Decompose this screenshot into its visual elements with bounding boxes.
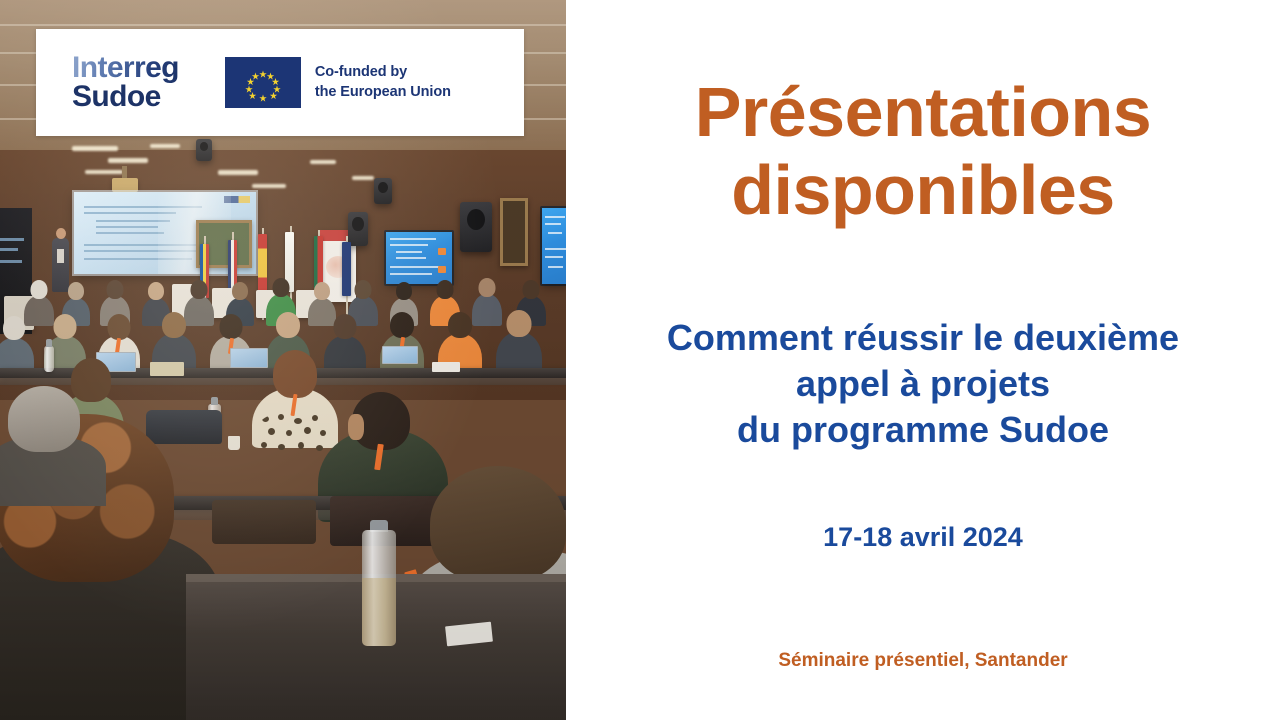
interreg-sudoe-logo: Interreg Sudoe — [72, 54, 179, 110]
loudspeaker — [196, 139, 212, 161]
interreg-logo-line1: Interreg — [72, 54, 179, 82]
bottle-cap — [46, 339, 52, 347]
conference-photo: Interreg Sudoe — [0, 0, 566, 720]
page-title-line2: disponibles — [731, 151, 1114, 229]
attendee-head — [68, 282, 84, 300]
event-date: 17-18 avril 2024 — [566, 522, 1280, 553]
attendee-head — [507, 310, 532, 337]
attendee-head — [191, 280, 208, 299]
attendee-head — [148, 282, 164, 300]
attendee-head — [54, 314, 77, 339]
screen-text-line — [545, 216, 565, 218]
attendee-head — [314, 282, 330, 300]
attendee-head — [108, 314, 131, 340]
screen-text-line — [396, 251, 422, 253]
attendee-head — [390, 312, 414, 338]
attendee-head — [273, 278, 290, 297]
eu-funding-line1: Co-funded by — [315, 63, 451, 83]
screen-text-line — [390, 238, 436, 240]
screen-text-line — [545, 223, 561, 225]
chair-back — [212, 500, 316, 544]
page-subtitle-line3: du programme Sudoe — [737, 409, 1109, 450]
attendee-foreground-grey — [0, 386, 106, 506]
event-venue: Séminaire présentiel, Santander — [566, 650, 1280, 672]
eu-funding-line2: the European Union — [315, 83, 451, 103]
ceiling-light — [85, 170, 123, 174]
loudspeaker — [374, 178, 392, 204]
content-panel: Présentations disponibles Comment réussi… — [566, 0, 1280, 720]
attendee-ear — [348, 414, 364, 440]
ceiling-projector — [112, 178, 138, 192]
attendee-head — [448, 312, 472, 338]
attendee-head — [162, 312, 186, 338]
attendee-head — [334, 314, 357, 339]
ceiling-light — [252, 184, 286, 188]
ceiling-light — [72, 146, 118, 151]
eu-flag-icon — [225, 57, 301, 108]
loudspeaker — [348, 212, 368, 246]
attendee-head — [355, 280, 372, 299]
screen-text-line — [548, 232, 562, 234]
attendee-head — [276, 312, 300, 338]
eu-emblem-block: Co-funded by the European Union — [225, 57, 451, 108]
attendee-head — [107, 280, 124, 299]
screen-text-line — [545, 248, 566, 250]
ceiling-slat — [0, 24, 566, 26]
bottle-sleeve — [362, 578, 396, 646]
ceiling-light — [150, 144, 180, 148]
bottle-body — [362, 530, 396, 582]
presenter-head — [56, 228, 66, 239]
attendee-head — [523, 280, 540, 299]
page-title-line1: Présentations — [695, 73, 1151, 151]
banner-line — [0, 260, 22, 263]
screen-text-line — [96, 232, 164, 234]
screen-text-line — [390, 266, 440, 268]
attendee-head — [430, 466, 566, 582]
page-subtitle-line2: appel à projets — [796, 363, 1050, 404]
attendee-head — [31, 280, 48, 299]
loudspeaker — [460, 202, 492, 252]
banner-line — [0, 248, 18, 251]
screen-text-line — [396, 257, 426, 259]
attendee-head — [479, 278, 496, 297]
ceiling-light — [218, 170, 258, 175]
ceiling-light — [310, 160, 336, 164]
presenter-shirt — [57, 249, 64, 263]
page-title: Présentations disponibles — [566, 73, 1280, 230]
screen-text-line — [548, 266, 563, 268]
ceiling-light — [352, 176, 374, 180]
attendee-head — [232, 282, 248, 300]
screen-text-line — [390, 244, 428, 246]
wall-picture-frame — [500, 198, 528, 266]
banner-line — [0, 238, 24, 241]
attendee-head — [437, 280, 454, 299]
screen-text-line — [545, 256, 563, 258]
eu-funding-text: Co-funded by the European Union — [315, 63, 451, 102]
screen-text-line — [96, 226, 158, 228]
attendee-head — [273, 350, 317, 398]
attendee-head — [396, 282, 412, 300]
attendee-head — [8, 386, 80, 452]
ceiling-light — [108, 158, 148, 163]
logo-card: Interreg Sudoe — [36, 29, 524, 136]
attendee-head — [220, 314, 243, 339]
insulated-bottle — [362, 528, 396, 646]
presentation-slide: Interreg Sudoe — [0, 0, 1280, 720]
attendee-head — [3, 316, 25, 340]
screen-badge-icon — [438, 248, 446, 255]
page-subtitle: Comment réussir le deuxième appel à proj… — [566, 315, 1280, 453]
interreg-logo-line2: Sudoe — [72, 83, 179, 111]
page-subtitle-line1: Comment réussir le deuxième — [667, 317, 1179, 358]
